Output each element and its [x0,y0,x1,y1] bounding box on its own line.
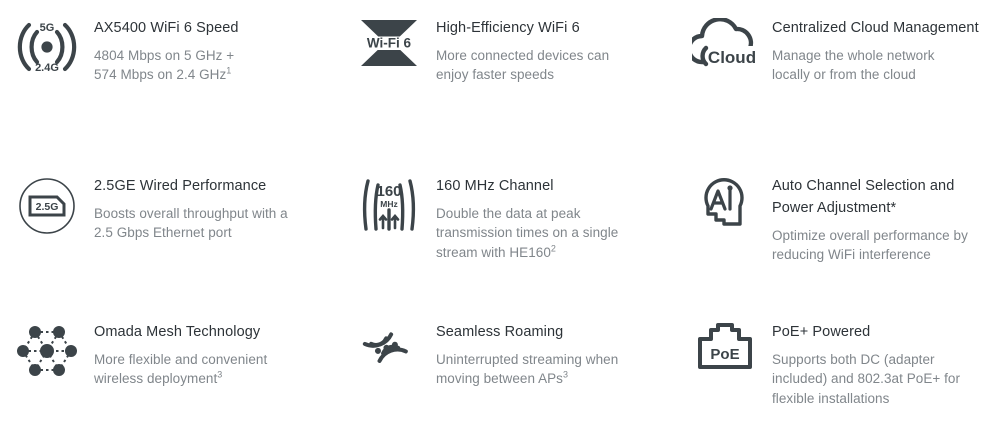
feature-card-160mhz-channel: 160 MHz 160 MHz Channel Double the data … [340,160,680,310]
desc-line-1: Manage the whole network [772,48,935,63]
feature-description: 4804 Mbps on 5 GHz + 574 Mbps on 2.4 GHz… [94,46,332,85]
feature-text: PoE+ Powered Supports both DC (adapter i… [772,322,998,408]
feature-title: Seamless Roaming [436,322,672,344]
ethernet-2-5g-port-icon: 2.5G [12,176,82,238]
desc-line-1: Boosts overall throughput with a [94,206,288,221]
desc-line-2: reducing WiFi interference [772,247,931,262]
feature-description: Uninterrupted streaming when moving betw… [436,350,672,389]
dual-band-wifi-icon: 5G 2.4G [12,18,82,80]
wifi-6-logo-icon: Wi-Fi 6 [354,18,424,80]
feature-text: AX5400 WiFi 6 Speed 4804 Mbps on 5 GHz +… [94,18,340,85]
feature-description: Manage the whole network locally or from… [772,46,990,85]
desc-line-2: locally or from the cloud [772,67,916,82]
desc-line-3: stream with HE160 [436,245,551,260]
desc-superscript: 1 [226,66,231,76]
dual-band-label-24g: 2.4G [35,62,59,74]
cloud-icon: Cloud [690,18,760,80]
desc-line-1: More flexible and convenient [94,352,267,367]
dual-band-label-5g: 5G [40,22,55,34]
desc-line-2: included) and 802.3at PoE+ for [772,371,960,386]
poe-label: PoE [710,346,739,363]
desc-superscript: 3 [217,370,222,380]
desc-line-2: 2.5 Gbps Ethernet port [94,225,232,240]
desc-line-2: moving between APs [436,371,563,386]
feature-description: Double the data at peak transmission tim… [436,204,672,263]
poe-port-icon: PoE [690,322,760,384]
feature-title: PoE+ Powered [772,322,990,344]
feature-text: Centralized Cloud Management Manage the … [772,18,998,85]
feature-card-auto-channel-selection: Auto Channel Selection and Power Adjustm… [680,160,998,310]
feature-description: Optimize overall performance by reducing… [772,226,990,265]
desc-superscript: 2 [551,243,556,253]
feature-card-high-efficiency-wifi6: Wi-Fi 6 High-Efficiency WiFi 6 More conn… [340,0,680,160]
desc-line-1: Double the data at peak [436,206,581,221]
feature-text: High-Efficiency WiFi 6 More connected de… [436,18,680,85]
feature-title: 160 MHz Channel [436,176,672,198]
channel-unit-label: MHz [380,199,397,209]
feature-text: 160 MHz Channel Double the data at peak … [436,176,680,262]
desc-line-1: Optimize overall performance by [772,228,968,243]
seamless-roaming-icon [354,322,424,384]
feature-title: Omada Mesh Technology [94,322,332,344]
desc-line-2: enjoy faster speeds [436,67,554,82]
desc-line-3: flexible installations [772,391,889,406]
feature-description: More flexible and convenient wireless de… [94,350,332,389]
feature-card-seamless-roaming: Seamless Roaming Uninterrupted streaming… [340,310,680,428]
feature-title: Centralized Cloud Management [772,18,990,40]
desc-line-1: Supports both DC (adapter [772,352,935,367]
cloud-label: Cloud [708,48,756,67]
feature-title: High-Efficiency WiFi 6 [436,18,672,40]
channel-width-label: 160 [376,183,401,200]
ai-head-icon [690,176,760,238]
feature-description: More connected devices can enjoy faster … [436,46,672,85]
feature-card-25ge-wired-performance: 2.5G 2.5GE Wired Performance Boosts over… [0,160,340,310]
feature-text: Omada Mesh Technology More flexible and … [94,322,340,389]
feature-card-omada-mesh-technology: Omada Mesh Technology More flexible and … [0,310,340,428]
desc-line-1: Uninterrupted streaming when [436,352,618,367]
desc-line-1: More connected devices can [436,48,609,63]
desc-line-2: transmission times on a single [436,225,618,240]
feature-grid: 5G 2.4G AX5400 WiFi 6 Speed 4804 Mbps on… [0,0,998,428]
wifi-6-logo-label: Wi-Fi 6 [367,36,412,51]
desc-line-1: 4804 Mbps on 5 GHz + [94,48,234,63]
feature-card-centralized-cloud-management: Cloud Centralized Cloud Management Manag… [680,0,998,160]
feature-card-poe-powered: PoE PoE+ Powered Supports both DC (adapt… [680,310,998,428]
160mhz-channel-icon: 160 MHz [354,176,424,238]
feature-title: AX5400 WiFi 6 Speed [94,18,332,40]
ethernet-speed-label: 2.5G [36,201,59,213]
feature-description: Supports both DC (adapter included) and … [772,350,990,409]
desc-line-2: 574 Mbps on 2.4 GHz [94,67,226,82]
feature-card-ax5400-wifi6-speed: 5G 2.4G AX5400 WiFi 6 Speed 4804 Mbps on… [0,0,340,160]
desc-line-2: wireless deployment [94,371,217,386]
feature-text: Seamless Roaming Uninterrupted streaming… [436,322,680,389]
feature-text: 2.5GE Wired Performance Boosts overall t… [94,176,340,243]
feature-description: Boosts overall throughput with a 2.5 Gbp… [94,204,332,243]
feature-title: 2.5GE Wired Performance [94,176,332,198]
feature-text: Auto Channel Selection and Power Adjustm… [772,176,998,265]
mesh-network-icon [12,322,82,384]
desc-superscript: 3 [563,370,568,380]
feature-title: Auto Channel Selection and Power Adjustm… [772,176,990,220]
